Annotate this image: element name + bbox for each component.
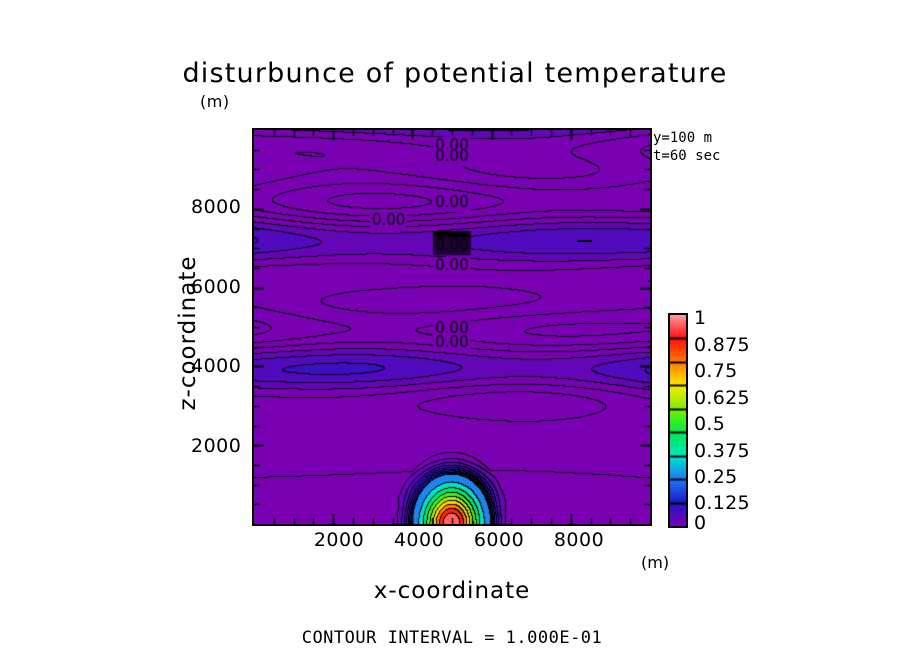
colorbar-tick-label: 1	[694, 307, 706, 329]
colorbar-tick-label: 0.625	[694, 387, 750, 409]
x-axis-title: x-coordinate	[252, 578, 652, 604]
colorbar-tick-label: 0.375	[694, 440, 750, 462]
x-tick-label: 4000	[394, 529, 444, 551]
contour-interval-caption: CONTOUR INTERVAL = 1.000E-01	[0, 628, 904, 648]
x-tick-label: 6000	[474, 529, 524, 551]
y-axis-title: z-coordinate	[175, 133, 201, 533]
title-unit-label: (m)	[200, 92, 230, 111]
plot-area	[252, 128, 652, 526]
colorbar-tick-label: 0.125	[694, 492, 750, 514]
annotation-y-level: y=100 m	[653, 130, 712, 146]
page-title: disturbunce of potential temperature	[170, 58, 740, 89]
colorbar-tick-label: 0.875	[694, 334, 750, 356]
colorbar-tick-label: 0	[694, 512, 706, 534]
colorbar-tick-label: 0.25	[694, 466, 738, 488]
colorbar-tick-label: 0.5	[694, 413, 725, 435]
contour-plot-canvas	[254, 130, 650, 524]
annotation-time: t=60 sec	[653, 148, 720, 164]
x-axis-unit-label: (m)	[641, 553, 669, 572]
x-tick-label: 2000	[314, 529, 364, 551]
figure-root: disturbunce of potential temperature (m)…	[0, 0, 904, 654]
colorbar-gradient-canvas	[670, 315, 686, 526]
colorbar-tick-label: 0.75	[694, 360, 738, 382]
x-tick-label: 8000	[554, 529, 604, 551]
colorbar	[668, 313, 688, 528]
